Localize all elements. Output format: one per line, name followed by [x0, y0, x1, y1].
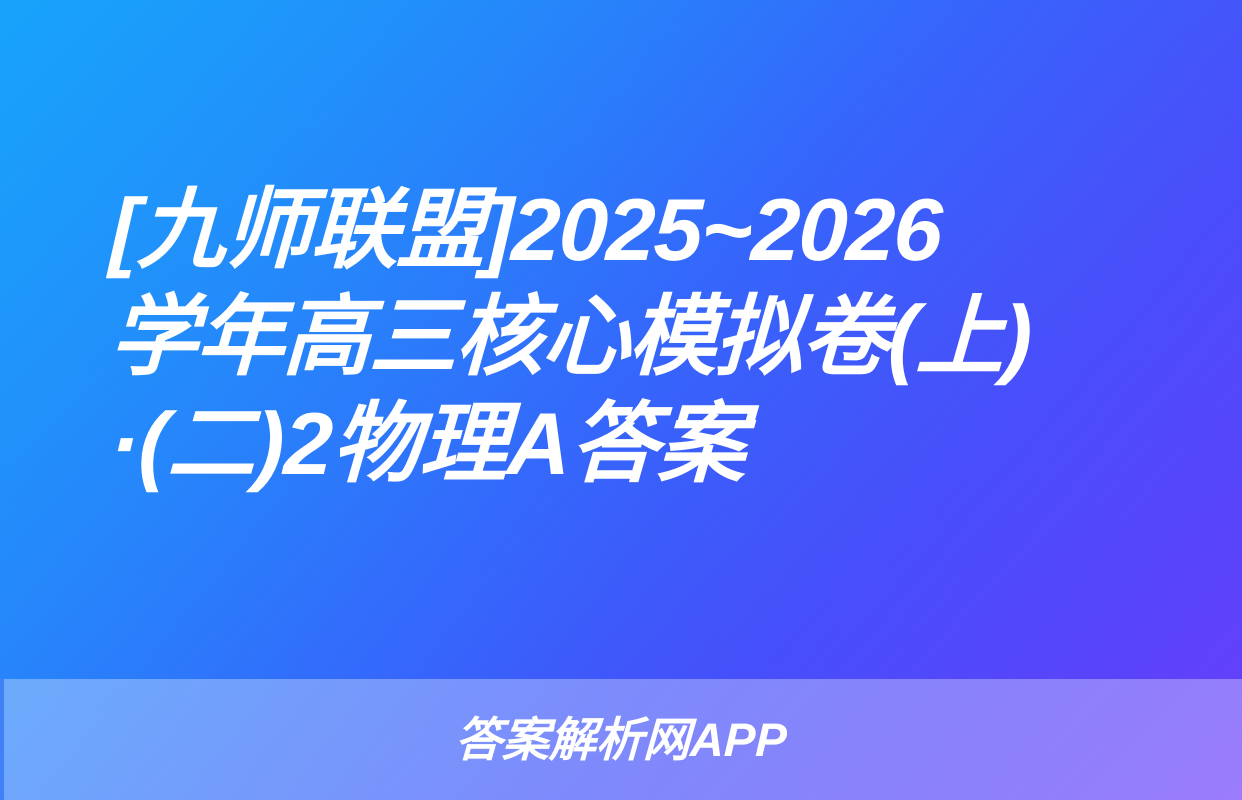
title-line-1: [九师联盟]2025~2026	[108, 176, 1166, 283]
footer-band: 答案解析网APP	[0, 679, 1242, 800]
app-brand-label: 答案解析网APP	[0, 714, 1242, 766]
title-line-3: ·(二)2物理A答案	[108, 390, 1166, 497]
title-block: [九师联盟]2025~2026 学年高三核心模拟卷(上) ·(二)2物理A答案	[0, 176, 1242, 497]
poster-canvas: [九师联盟]2025~2026 学年高三核心模拟卷(上) ·(二)2物理A答案 …	[0, 0, 1242, 800]
title-line-2: 学年高三核心模拟卷(上)	[108, 283, 1166, 390]
